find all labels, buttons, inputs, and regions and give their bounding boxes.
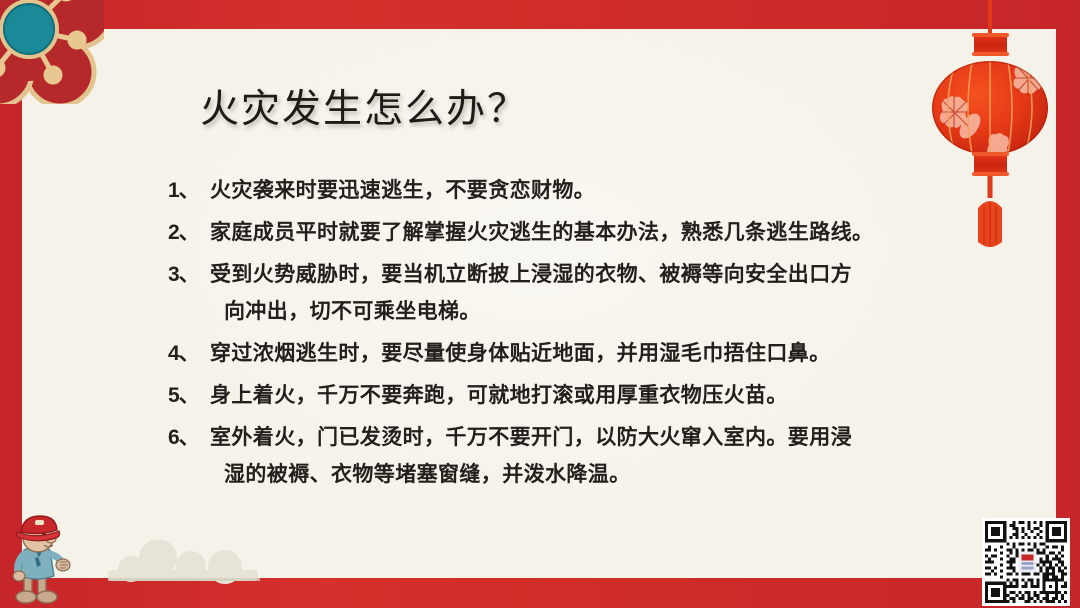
list-item-line: 火灾袭来时要迅速逃生，不要贪恋财物。	[210, 172, 960, 209]
list-item-line: 受到火势威胁时，要当机立断披上浸湿的衣物、被褥等向安全出口方	[210, 256, 960, 293]
list-item-number: 1、	[168, 172, 210, 209]
list-item-body: 家庭成员平时就要了解掌握火灾逃生的基本办法，熟悉几条逃生路线。	[210, 214, 960, 251]
list-item: 4、 穿过浓烟逃生时，要尽量使身体贴近地面，并用湿毛巾捂住口鼻。	[168, 335, 960, 372]
chinese-lantern-icon	[928, 0, 1068, 250]
list-item: 1、 火灾袭来时要迅速逃生，不要贪恋财物。	[168, 172, 960, 209]
list-item-number: 3、	[168, 256, 210, 293]
list-item-body: 受到火势威胁时，要当机立断披上浸湿的衣物、被褥等向安全出口方 向冲出，切不可乘坐…	[210, 256, 960, 330]
list-item: 3、 受到火势威胁时，要当机立断披上浸湿的衣物、被褥等向安全出口方 向冲出，切不…	[168, 256, 960, 330]
list-item-line: 室外着火，门已发烫时，千万不要开门，以防大火窜入室内。要用浸	[210, 419, 960, 456]
poster-root: 火灾发生怎么办？ 1、 火灾袭来时要迅速逃生，不要贪恋财物。 2、 家庭成员平时…	[0, 0, 1080, 608]
list-item: 5、 身上着火，千万不要奔跑，可就地打滚或用厚重衣物压火苗。	[168, 377, 960, 414]
list-item-line: 家庭成员平时就要了解掌握火灾逃生的基本办法，熟悉几条逃生路线。	[210, 214, 960, 251]
tips-list: 1、 火灾袭来时要迅速逃生，不要贪恋财物。 2、 家庭成员平时就要了解掌握火灾逃…	[168, 172, 960, 498]
qr-logo	[1018, 551, 1036, 572]
list-item-number: 5、	[168, 377, 210, 414]
page-title: 火灾发生怎么办？	[200, 78, 528, 134]
flower-corner-ornament-icon	[0, 0, 104, 104]
list-item: 6、 室外着火，门已发烫时，千万不要开门，以防大火窜入室内。要用浸 湿的被褥、衣…	[168, 419, 960, 493]
list-item-body: 火灾袭来时要迅速逃生，不要贪恋财物。	[210, 172, 960, 209]
list-item-body: 室外着火，门已发烫时，千万不要开门，以防大火窜入室内。要用浸 湿的被褥、衣物等堵…	[210, 419, 960, 493]
list-item-body: 身上着火，千万不要奔跑，可就地打滚或用厚重衣物压火苗。	[210, 377, 960, 414]
list-item-line: 向冲出，切不可乘坐电梯。	[210, 293, 960, 330]
qr-code[interactable]	[982, 518, 1070, 606]
list-item-line: 身上着火，千万不要奔跑，可就地打滚或用厚重衣物压火苗。	[210, 377, 960, 414]
list-item-number: 4、	[168, 335, 210, 372]
list-item-number: 2、	[168, 214, 210, 251]
firefighter-mascot-icon	[2, 512, 76, 608]
list-item: 2、 家庭成员平时就要了解掌握火灾逃生的基本办法，熟悉几条逃生路线。	[168, 214, 960, 251]
list-item-line: 穿过浓烟逃生时，要尽量使身体贴近地面，并用湿毛巾捂住口鼻。	[210, 335, 960, 372]
list-item-body: 穿过浓烟逃生时，要尽量使身体贴近地面，并用湿毛巾捂住口鼻。	[210, 335, 960, 372]
list-item-number: 6、	[168, 419, 210, 456]
list-item-line: 湿的被褥、衣物等堵塞窗缝，并泼水降温。	[210, 456, 960, 493]
